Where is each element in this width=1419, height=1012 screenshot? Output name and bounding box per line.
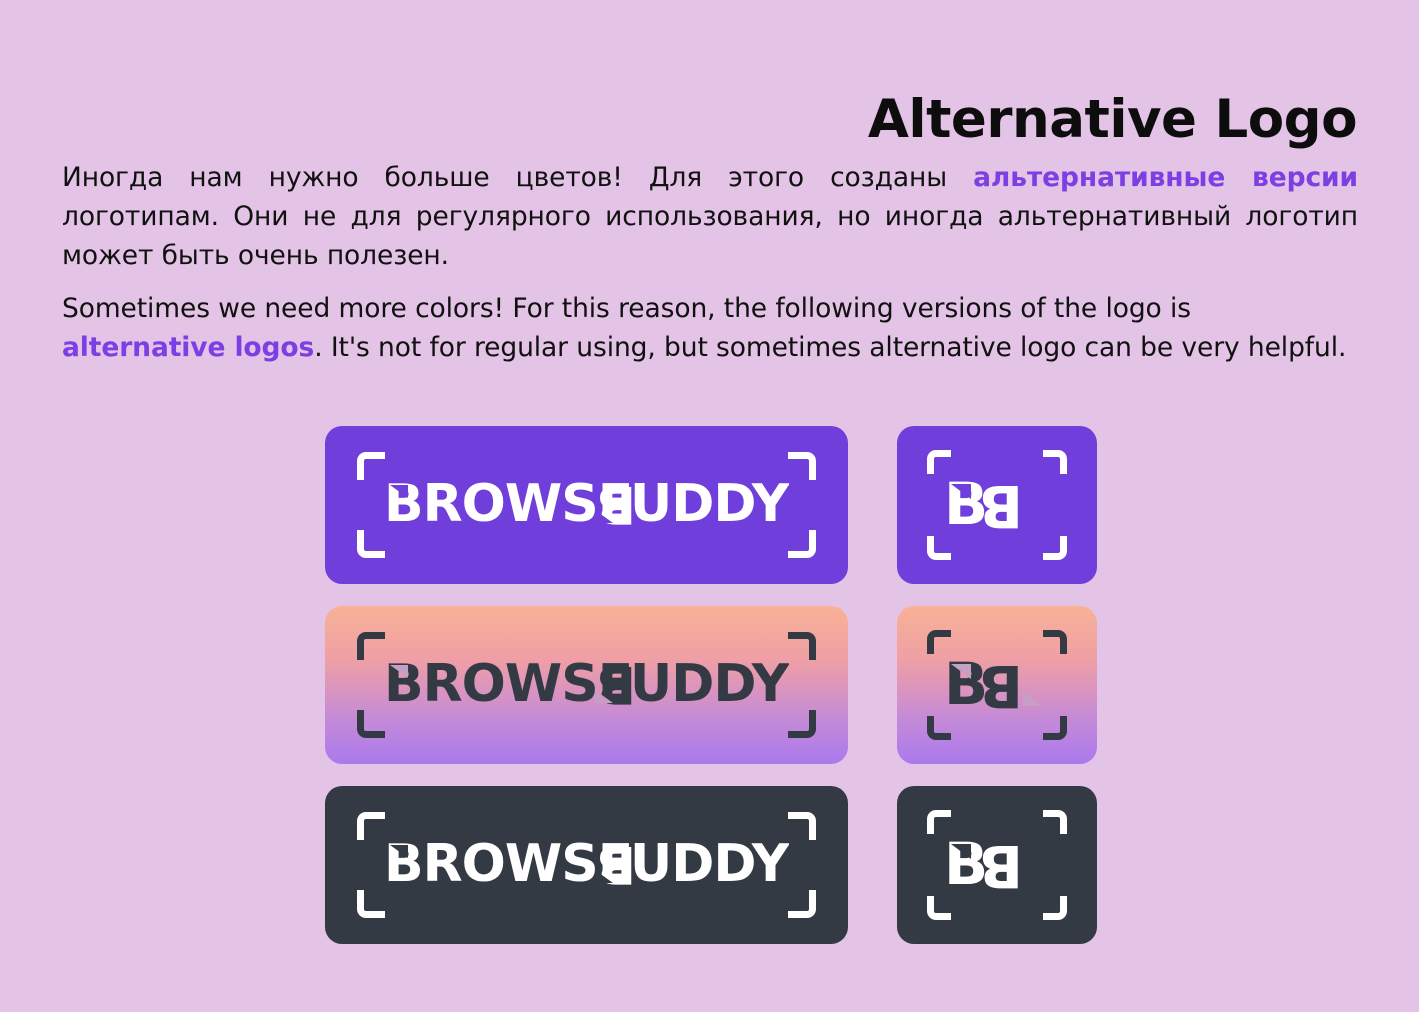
logo-card-square-gradient[interactable]: B B	[897, 606, 1097, 764]
logo-card-square-purple[interactable]: B B	[897, 426, 1097, 584]
paragraph-russian-part2: логотипам. Они не для регулярного исполь…	[62, 201, 1358, 271]
svg-text:UDDY: UDDY	[630, 656, 789, 714]
svg-text:B: B	[979, 654, 1023, 716]
svg-text:B: B	[979, 834, 1023, 896]
paragraph-english-part2: . It's not for regular using, but someti…	[314, 332, 1346, 363]
svg-text:UDDY: UDDY	[630, 836, 789, 894]
svg-text:BROWSE: BROWSE	[384, 476, 632, 534]
logo-row-gradient: BROWSE B UDDY B	[325, 606, 1097, 764]
logo-card-wide-gradient[interactable]: BROWSE B UDDY	[325, 606, 848, 764]
logo-card-square-dark[interactable]: B B	[897, 786, 1097, 944]
wordmark-lockup: BROWSE B UDDY	[325, 606, 848, 764]
monogram-bb-icon: B B	[942, 654, 1052, 716]
monogram-lockup: B B	[897, 786, 1097, 944]
page-title: Alternative Logo	[868, 92, 1357, 148]
description-block: Иногда нам нужно больше цветов! Для этог…	[62, 158, 1358, 381]
logo-row-purple: BROWSE B UDDY B	[325, 426, 1097, 584]
wordmark-browsebuddy-icon: BROWSE B UDDY	[384, 656, 789, 714]
paragraph-russian-accent: альтернативные версии	[973, 162, 1358, 193]
paragraph-russian: Иногда нам нужно больше цветов! Для этог…	[62, 158, 1358, 275]
logo-card-wide-dark[interactable]: BROWSE B UDDY	[325, 786, 848, 944]
slide-canvas: Alternative Logo Иногда нам нужно больше…	[0, 0, 1419, 1012]
paragraph-english-accent: alternative logos	[62, 332, 314, 363]
wordmark-browsebuddy-icon: BROWSE B UDDY	[384, 836, 789, 894]
svg-text:BROWSE: BROWSE	[384, 656, 632, 714]
wordmark-browsebuddy-icon: BROWSE B UDDY	[384, 476, 789, 534]
wordmark-lockup: BROWSE B UDDY	[325, 426, 848, 584]
svg-text:B: B	[979, 474, 1023, 536]
paragraph-english-part1: Sometimes we need more colors! For this …	[62, 293, 1191, 324]
wordmark-lockup: BROWSE B UDDY	[325, 786, 848, 944]
logo-variant-grid: BROWSE B UDDY B	[325, 426, 1097, 944]
svg-text:UDDY: UDDY	[630, 476, 789, 534]
monogram-lockup: B B	[897, 426, 1097, 584]
monogram-bb-icon: B B	[942, 474, 1052, 536]
svg-text:BROWSE: BROWSE	[384, 836, 632, 894]
monogram-lockup: B B	[897, 606, 1097, 764]
logo-card-wide-purple[interactable]: BROWSE B UDDY	[325, 426, 848, 584]
paragraph-russian-part1: Иногда нам нужно больше цветов! Для этог…	[62, 162, 973, 193]
logo-row-dark: BROWSE B UDDY B	[325, 786, 1097, 944]
monogram-bb-icon: B B	[942, 834, 1052, 896]
paragraph-english: Sometimes we need more colors! For this …	[62, 289, 1358, 367]
